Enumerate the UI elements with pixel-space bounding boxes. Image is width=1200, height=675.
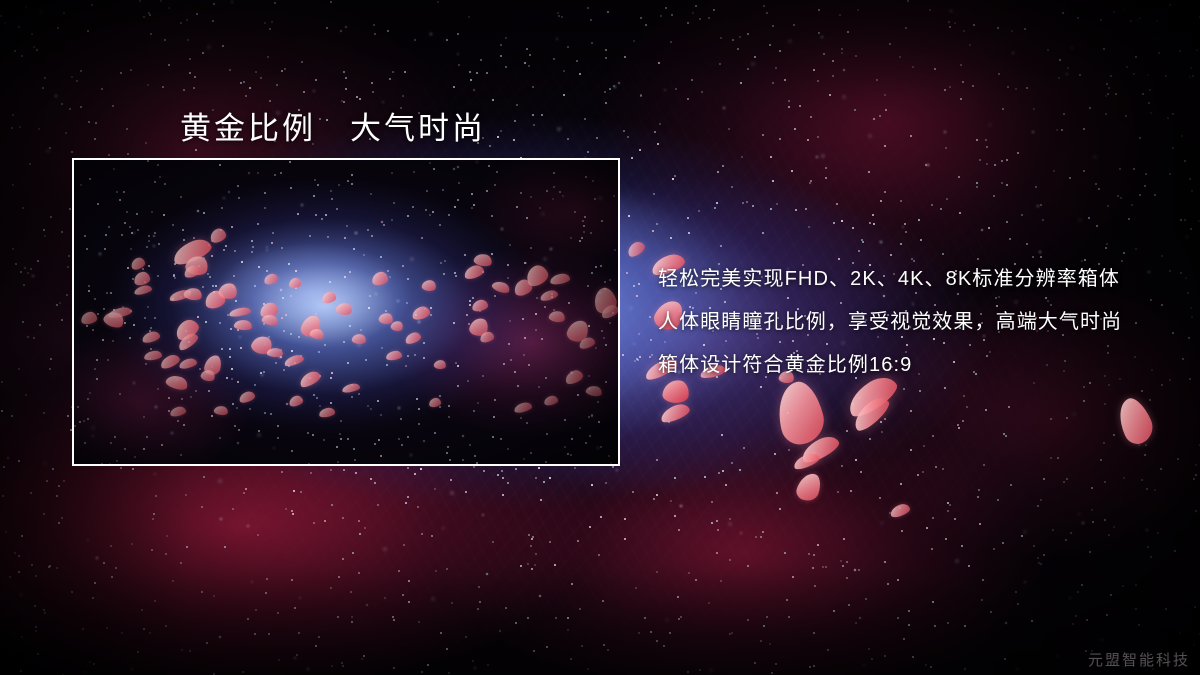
flower-petal xyxy=(794,470,824,503)
body-line-1: 轻松完美实现FHD、2K、4K、8K标准分辨率箱体 xyxy=(658,258,1158,301)
slide-canvas: 黄金比例 大气时尚 轻松完美实现FHD、2K、4K、8K标准分辨率箱体 人体眼睛… xyxy=(0,0,1200,675)
frame-vignette xyxy=(74,160,618,464)
flower-petal xyxy=(659,401,692,424)
body-text-block: 轻松完美实现FHD、2K、4K、8K标准分辨率箱体 人体眼睛瞳孔比例，享受视觉效… xyxy=(658,258,1158,387)
starfield xyxy=(0,0,2,2)
flower-petal xyxy=(889,502,911,519)
page-title: 黄金比例 大气时尚 xyxy=(180,103,486,148)
framed-nebula-image xyxy=(72,158,620,466)
flower-petal xyxy=(625,239,647,258)
body-line-3: 箱体设计符合黄金比例16:9 xyxy=(658,344,1158,387)
flower-petal xyxy=(1112,394,1158,448)
body-line-2: 人体眼睛瞳孔比例，享受视觉效果，高端大气时尚 xyxy=(658,301,1158,344)
flower-petal xyxy=(798,432,842,466)
flower-petal xyxy=(771,378,829,449)
flower-petal xyxy=(792,451,821,472)
watermark: 元盟智能科技 xyxy=(1088,649,1190,670)
flower-petal xyxy=(849,393,893,435)
